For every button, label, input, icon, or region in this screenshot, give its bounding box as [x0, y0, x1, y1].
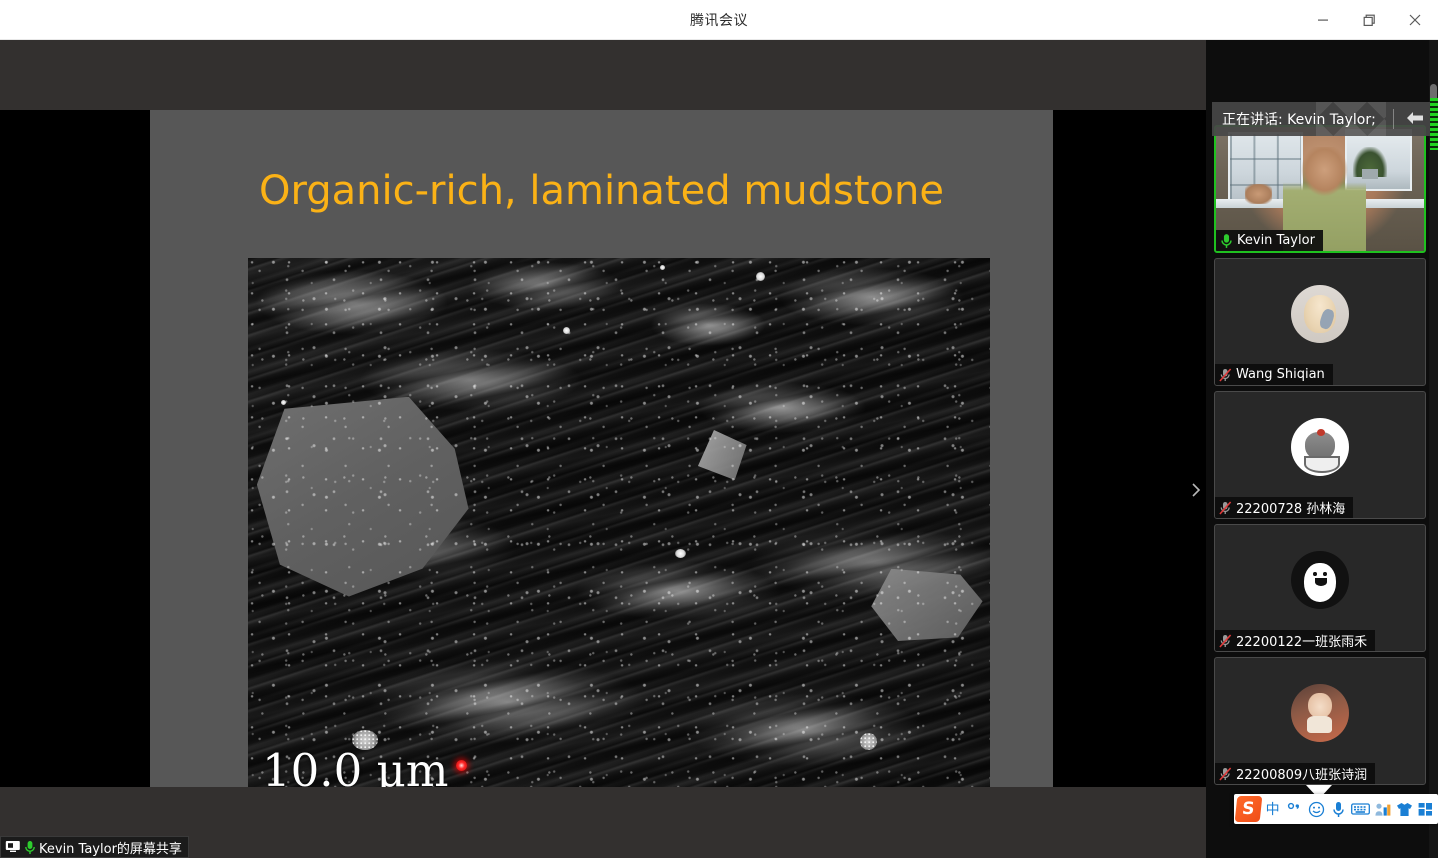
participant-name: 22200122一班张雨禾	[1236, 631, 1367, 650]
speaking-tooltip: 正在讲话: Kevin Taylor;	[1212, 102, 1438, 136]
keyboard-icon	[1351, 802, 1370, 816]
stage-top-band	[0, 40, 1206, 110]
shared-screen-stage[interactable]: Organic-rich, laminated mudstone	[0, 40, 1206, 858]
participant-tile-kevin-taylor[interactable]: Kevin Taylor	[1214, 125, 1426, 253]
ime-emoji-button[interactable]	[1307, 796, 1327, 822]
ime-language-mode-button[interactable]: 中	[1263, 796, 1283, 822]
mic-muted-icon	[1219, 633, 1232, 649]
monitor-icon	[5, 840, 21, 854]
emoji-icon	[1308, 801, 1325, 818]
window-controls	[1300, 0, 1438, 40]
bear-avatar-eye	[1323, 572, 1326, 576]
ime-screenshot-button[interactable]	[1372, 796, 1392, 822]
close-icon	[1409, 14, 1421, 26]
sogou-logo-icon[interactable]: S	[1235, 796, 1262, 822]
presentation-slide: Organic-rich, laminated mudstone	[150, 110, 1053, 787]
participant-name-badge: 22200122一班张雨禾	[1215, 630, 1375, 651]
minimize-button[interactable]	[1300, 0, 1346, 40]
window-title: 腾讯会议	[690, 10, 748, 30]
mic-on-icon	[24, 840, 36, 855]
participant-name: Wang Shiqian	[1236, 367, 1325, 382]
ime-language-mode-label: 中	[1266, 799, 1280, 819]
stage-letterbox-right	[1053, 110, 1206, 787]
screen-share-indicator: Kevin Taylor的屏幕共享	[0, 836, 189, 858]
meeting-window: 腾讯会议	[0, 0, 1438, 858]
collapse-panel-chevron[interactable]	[1186, 472, 1206, 508]
participant-panel: Kevin Taylor Wang Shiqian	[1206, 40, 1438, 858]
minimize-icon	[1317, 14, 1329, 26]
sem-bright-spot	[660, 265, 665, 270]
sem-pyrite-framboid	[860, 733, 877, 750]
participant-name-badge: 22200728 孙林海	[1215, 497, 1353, 518]
bear-avatar-mouth	[1315, 578, 1327, 586]
ime-toolbox-button[interactable]	[1416, 796, 1436, 822]
tooltip-divider	[1393, 109, 1394, 129]
mic-muted-icon	[1219, 500, 1232, 516]
grid-icon	[1418, 802, 1434, 817]
restore-button[interactable]	[1346, 0, 1392, 40]
share-indicator-label: Kevin Taylor的屏幕共享	[39, 838, 182, 857]
participant-name: 22200728 孙林海	[1236, 498, 1345, 517]
participant-tile-sunlinhai[interactable]: 22200728 孙林海	[1214, 391, 1426, 519]
mic-muted-icon	[1219, 766, 1232, 782]
mic-muted-icon	[1219, 367, 1232, 383]
audio-level-meter	[1430, 98, 1438, 150]
ime-toolbar[interactable]: S 中	[1234, 794, 1438, 824]
sem-image-content: 10.0 µm	[248, 258, 990, 787]
sem-micrograph-image: 10.0 µm	[248, 258, 990, 787]
slide-title: Organic-rich, laminated mudstone	[150, 168, 1053, 214]
scalebar-label: 10.0 µm	[262, 748, 448, 787]
participant-tile-zhangshirun[interactable]: 22200809八班张诗润	[1214, 657, 1426, 785]
mic-on-icon	[1220, 233, 1233, 249]
skin-icon	[1396, 802, 1413, 817]
microphone-icon	[1332, 801, 1345, 818]
participant-tile-wang-shiqian[interactable]: Wang Shiqian	[1214, 258, 1426, 386]
participant-name-badge: Kevin Taylor	[1216, 230, 1323, 251]
punctuation-icon	[1287, 802, 1303, 816]
screenshot-icon	[1374, 802, 1391, 817]
cat-avatar-accent	[1317, 429, 1325, 436]
title-bar: 腾讯会议	[0, 0, 1438, 40]
ime-soft-keyboard-button[interactable]	[1350, 796, 1370, 822]
ime-skin-button[interactable]	[1394, 796, 1414, 822]
close-button[interactable]	[1392, 0, 1438, 40]
panel-scrollbar-track[interactable]	[1429, 40, 1438, 858]
bear-avatar	[1291, 551, 1349, 609]
sem-speckle-layer	[248, 258, 990, 787]
sem-bright-spot	[281, 400, 286, 405]
restore-icon	[1363, 14, 1376, 27]
cat-avatar	[1291, 418, 1349, 476]
participant-name-badge: Wang Shiqian	[1215, 364, 1333, 385]
girl-photo-avatar	[1291, 684, 1349, 742]
participant-tile-zhangyuhe[interactable]: 22200122一班张雨禾	[1214, 524, 1426, 652]
chevron-right-icon	[1191, 482, 1201, 498]
back-arrow-icon	[1406, 110, 1424, 126]
participant-name-badge: 22200809八班张诗润	[1215, 763, 1375, 784]
stage-letterbox-left	[0, 110, 150, 787]
participant-name: 22200809八班张诗润	[1236, 764, 1367, 783]
laser-pointer-dot	[456, 760, 467, 771]
ime-punctuation-button[interactable]	[1285, 796, 1305, 822]
ime-voice-button[interactable]	[1328, 796, 1348, 822]
dog-avatar	[1291, 285, 1349, 343]
bear-avatar-eye	[1313, 572, 1316, 576]
participant-hand	[1245, 184, 1272, 204]
participant-name: Kevin Taylor	[1237, 233, 1315, 248]
watermark-pattern	[1316, 102, 1386, 136]
